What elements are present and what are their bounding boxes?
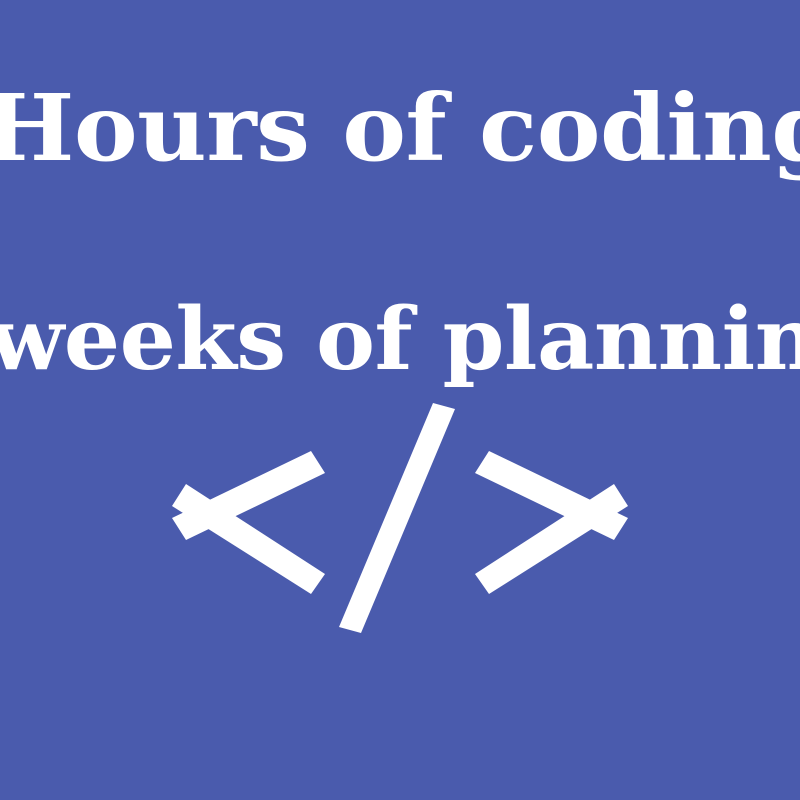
left-angle-bracket-icon: [172, 451, 325, 540]
poster-canvas: Hours of coding weeks of planning: [0, 0, 800, 800]
headline-line-1: Hours of coding: [0, 78, 800, 178]
left-angle-bracket-lower-arm-icon: [172, 484, 325, 594]
right-angle-bracket-lower-arm-icon: [475, 484, 628, 594]
right-angle-bracket-icon: [475, 451, 628, 540]
forward-slash-icon: [339, 403, 455, 633]
headline-line-2: weeks of planning: [0, 292, 800, 388]
